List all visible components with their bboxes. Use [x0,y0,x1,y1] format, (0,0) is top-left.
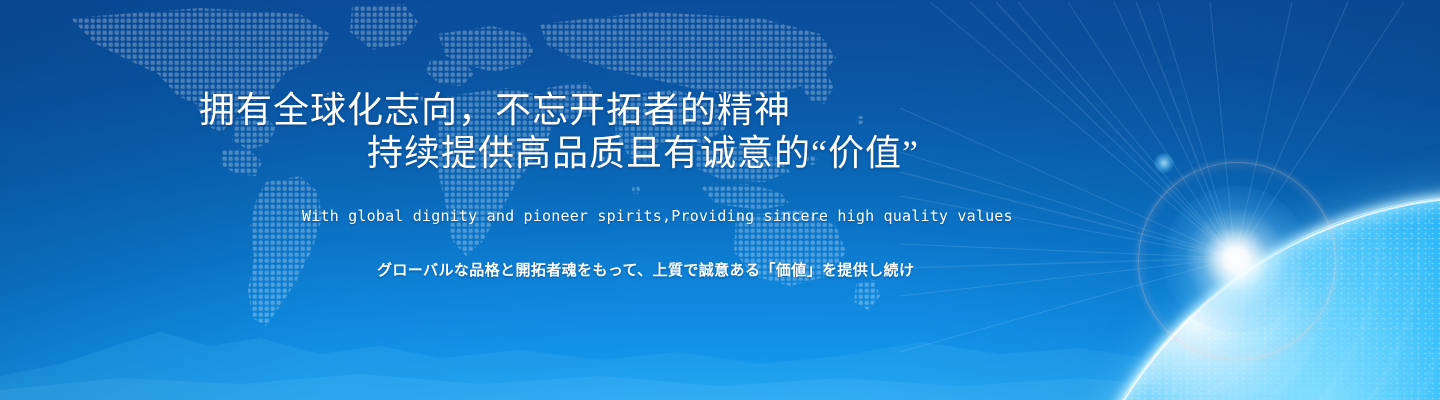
hero-banner: 拥有全球化志向，不忘开拓者的精神 持续提供高品质且有诚意的“价值” With g… [0,0,1440,400]
subtitle-english: With global dignity and pioneer spirits,… [302,206,1013,226]
planet-sphere [1058,196,1440,400]
subtitle-japanese: グローバルな品格と開拓者魂をもって、上質で誠意ある「価値」を提供し続け [377,259,914,281]
earth-globe [970,0,1440,400]
planet-surface-texture [1058,196,1440,400]
headline-line-2: 持续提供高品质且有诚意的“价值” [367,133,919,173]
headline-line-1: 拥有全球化志向，不忘开拓者的精神 [199,90,791,130]
